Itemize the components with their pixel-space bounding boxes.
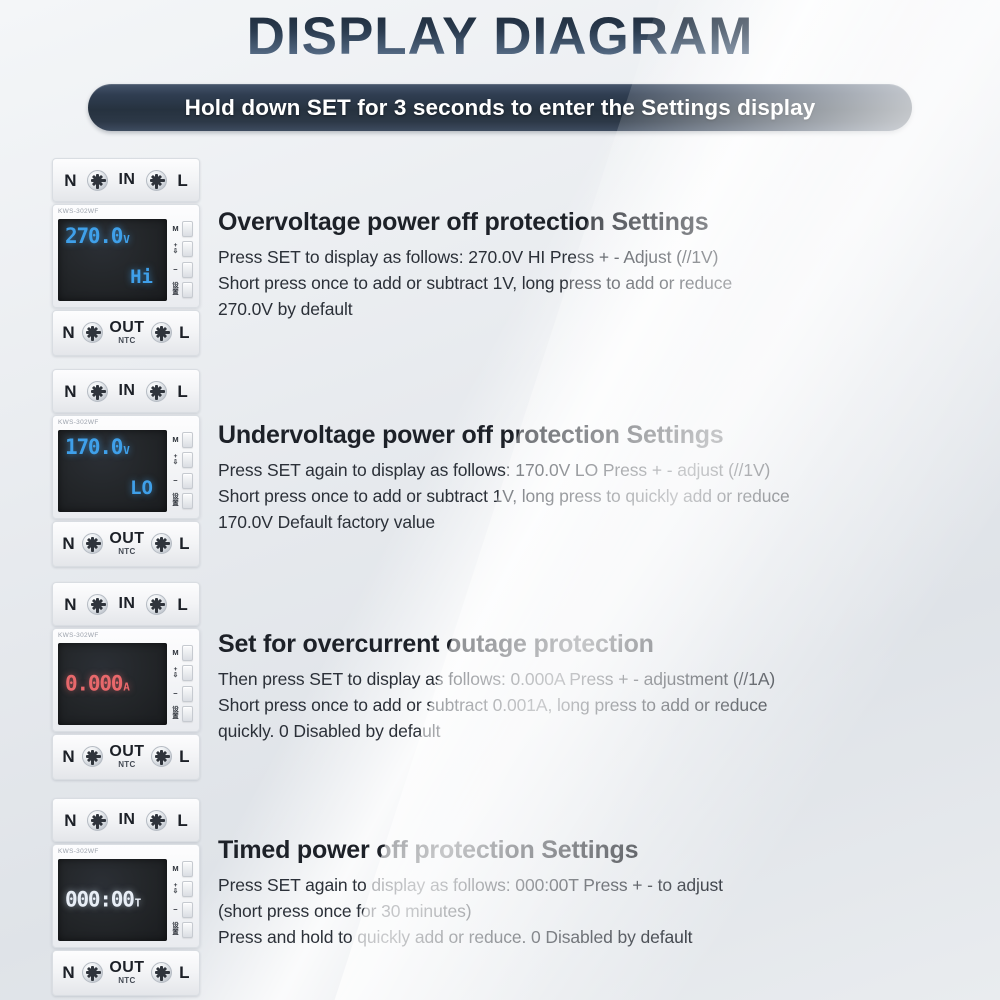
terminal-label-n-bottom: N xyxy=(62,964,74,981)
minus-button[interactable]: − xyxy=(171,260,195,279)
terminal-label-n-top: N xyxy=(64,812,76,829)
section-line: quickly. 0 Disabled by default xyxy=(218,719,980,745)
instruction-banner: Hold down SET for 3 seconds to enter the… xyxy=(88,84,912,131)
screw-icon xyxy=(87,170,108,191)
plus-button-label: +⇩ xyxy=(171,454,180,468)
plus-button-key[interactable] xyxy=(182,881,193,897)
lcd-screen: 170.0V LO xyxy=(58,430,167,512)
screw-icon xyxy=(82,533,103,554)
section-line: Press and hold to quickly add or reduce.… xyxy=(218,925,980,951)
meter-body: KWS-302WF 170.0V LO M xyxy=(52,415,200,519)
lcd-unit: T xyxy=(135,896,142,909)
lcd-screen: 270.0V Hi xyxy=(58,219,167,301)
mode-button-key[interactable] xyxy=(182,861,193,877)
bottom-terminal-block: N OUT NTC L xyxy=(52,950,200,996)
minus-button-key[interactable] xyxy=(182,902,193,918)
screw-icon xyxy=(146,381,167,402)
plus-button-key[interactable] xyxy=(182,665,193,681)
section-line: Short press once to add or subtract 0.00… xyxy=(218,693,980,719)
screw-icon xyxy=(87,810,108,831)
model-label: KWS-302WF xyxy=(58,633,195,640)
section-line: (short press once for 30 minutes) xyxy=(218,899,980,925)
device-unit-overcurrent: N IN L KWS-302WF 0.000A xyxy=(52,582,204,780)
top-terminal-block: N IN L xyxy=(52,798,200,842)
terminal-label-l-top: L xyxy=(177,596,187,613)
mode-button[interactable]: M xyxy=(171,431,195,450)
terminal-label-ntc: NTC xyxy=(118,548,135,556)
screw-icon xyxy=(151,533,172,554)
terminal-label-n-bottom: N xyxy=(62,748,74,765)
lcd-secondary-value: Hi xyxy=(130,268,153,287)
minus-button-label: − xyxy=(171,477,180,485)
section-line: 170.0V Default factory value xyxy=(218,510,980,536)
section-row-overcurrent: N IN L KWS-302WF 0.000A xyxy=(0,582,1000,780)
minus-button[interactable]: − xyxy=(171,471,195,490)
terminal-label-out: OUT NTC xyxy=(109,744,144,769)
terminal-label-in: IN xyxy=(119,172,136,188)
set-button[interactable]: 设置 xyxy=(171,704,195,723)
screw-icon xyxy=(146,170,167,191)
terminal-label-l-bottom: L xyxy=(179,964,189,981)
meter-body: KWS-302WF 000:00T M xyxy=(52,844,200,948)
section-text-timed: Timed power off protection Settings Pres… xyxy=(204,798,1000,996)
section-title: Timed power off protection Settings xyxy=(218,836,980,864)
model-label: KWS-302WF xyxy=(58,209,195,216)
set-button-key[interactable] xyxy=(182,922,193,938)
screw-icon xyxy=(146,810,167,831)
top-terminal-block: N IN L xyxy=(52,158,200,202)
section-text-overcurrent: Set for overcurrent outage protection Th… xyxy=(204,582,1000,780)
screw-icon xyxy=(87,381,108,402)
bottom-terminal-block: N OUT NTC L xyxy=(52,310,200,356)
minus-button[interactable]: − xyxy=(171,684,195,703)
terminal-label-in: IN xyxy=(119,383,136,399)
screw-icon xyxy=(87,594,108,615)
set-button[interactable]: 设置 xyxy=(171,920,195,939)
button-column: M +⇩ − xyxy=(171,859,195,941)
section-row-overvoltage: N IN L KWS-302WF 270.0V Hi xyxy=(0,158,1000,356)
terminal-label-n-top: N xyxy=(64,172,76,189)
mode-button-key[interactable] xyxy=(182,221,193,237)
top-terminal-block: N IN L xyxy=(52,582,200,626)
mode-button-label: M xyxy=(171,649,180,657)
plus-button[interactable]: +⇩ xyxy=(171,880,195,899)
instruction-banner-text: Hold down SET for 3 seconds to enter the… xyxy=(185,95,816,121)
terminal-label-out: OUT NTC xyxy=(109,531,144,556)
section-line: Press SET again to display as follows: 0… xyxy=(218,873,980,899)
model-label: KWS-302WF xyxy=(58,849,195,856)
terminal-label-ntc: NTC xyxy=(118,761,135,769)
screw-icon xyxy=(151,962,172,983)
terminal-label-l-top: L xyxy=(177,383,187,400)
button-column: M +⇩ − xyxy=(171,430,195,512)
model-label: KWS-302WF xyxy=(58,420,195,427)
lcd-secondary-value: LO xyxy=(130,479,153,498)
terminal-label-in: IN xyxy=(119,596,136,612)
terminal-label-l-bottom: L xyxy=(179,748,189,765)
lcd-primary-value: 270.0V xyxy=(65,226,130,247)
set-button-key[interactable] xyxy=(182,706,193,722)
bottom-terminal-block: N OUT NTC L xyxy=(52,521,200,567)
minus-button-key[interactable] xyxy=(182,686,193,702)
top-terminal-block: N IN L xyxy=(52,369,200,413)
set-button[interactable]: 设置 xyxy=(171,491,195,510)
page-title: DISPLAY DIAGRAM xyxy=(0,8,1000,66)
terminal-label-ntc: NTC xyxy=(118,337,135,345)
screw-icon xyxy=(146,594,167,615)
section-text-undervoltage: Undervoltage power off protection Settin… xyxy=(204,369,1000,567)
section-line: Press SET again to display as follows: 1… xyxy=(218,458,980,484)
section-line: Short press once to add or subtract 1V, … xyxy=(218,484,980,510)
lcd-unit: V xyxy=(123,444,130,457)
plus-button-label: +⇩ xyxy=(171,883,180,897)
set-button-label: 设置 xyxy=(171,283,180,297)
section-line: 270.0V by default xyxy=(218,297,980,323)
screw-icon xyxy=(151,746,172,767)
meter-body: KWS-302WF 0.000A M xyxy=(52,628,200,732)
terminal-label-in: IN xyxy=(119,812,136,828)
set-button[interactable]: 设置 xyxy=(171,280,195,299)
mode-button-label: M xyxy=(171,436,180,444)
terminal-label-n-bottom: N xyxy=(62,324,74,341)
plus-button[interactable]: +⇩ xyxy=(171,240,195,259)
plus-button-key[interactable] xyxy=(182,241,193,257)
mode-button-key[interactable] xyxy=(182,645,193,661)
terminal-label-l-bottom: L xyxy=(179,324,189,341)
plus-button-label: +⇩ xyxy=(171,243,180,257)
section-title: Set for overcurrent outage protection xyxy=(218,630,980,658)
mode-button[interactable]: M xyxy=(171,644,195,663)
terminal-label-n-top: N xyxy=(64,596,76,613)
lcd-primary-value: 170.0V xyxy=(65,437,130,458)
lcd-unit: A xyxy=(123,680,130,693)
plus-button-key[interactable] xyxy=(182,452,193,468)
page-background: DISPLAY DIAGRAM Hold down SET for 3 seco… xyxy=(0,0,1000,1000)
screw-icon xyxy=(82,322,103,343)
mode-button-label: M xyxy=(171,225,180,233)
terminal-label-l-top: L xyxy=(177,812,187,829)
minus-button-label: − xyxy=(171,690,180,698)
section-text-overvoltage: Overvoltage power off protection Setting… xyxy=(204,158,1000,356)
section-title: Overvoltage power off protection Setting… xyxy=(218,208,980,236)
screw-icon xyxy=(82,962,103,983)
terminal-label-out: OUT NTC xyxy=(109,320,144,345)
set-button-label: 设置 xyxy=(171,707,180,721)
set-button-label: 设置 xyxy=(171,494,180,508)
terminal-label-l-bottom: L xyxy=(179,535,189,552)
minus-button-key[interactable] xyxy=(182,473,193,489)
minus-button-key[interactable] xyxy=(182,262,193,278)
plus-button[interactable]: +⇩ xyxy=(171,451,195,470)
mode-button-label: M xyxy=(171,865,180,873)
plus-button[interactable]: +⇩ xyxy=(171,664,195,683)
bottom-terminal-block: N OUT NTC L xyxy=(52,734,200,780)
device-unit-undervoltage: N IN L KWS-302WF 170.0V LO xyxy=(52,369,204,567)
lcd-screen: 0.000A xyxy=(58,643,167,725)
lcd-unit: V xyxy=(123,233,130,246)
section-line: Then press SET to display as follows: 0.… xyxy=(218,667,980,693)
minus-button-label: − xyxy=(171,266,180,274)
lcd-screen: 000:00T xyxy=(58,859,167,941)
terminal-label-ntc: NTC xyxy=(118,977,135,985)
screw-icon xyxy=(151,322,172,343)
lcd-primary-value: 0.000A xyxy=(65,673,130,694)
section-line: Press SET to display as follows: 270.0V … xyxy=(218,245,980,271)
terminal-label-n-bottom: N xyxy=(62,535,74,552)
minus-button-label: − xyxy=(171,906,180,914)
terminal-label-l-top: L xyxy=(177,172,187,189)
device-unit-timed: N IN L KWS-302WF 000:00T xyxy=(52,798,204,996)
set-button-key[interactable] xyxy=(182,493,193,509)
section-line: Short press once to add or subtract 1V, … xyxy=(218,271,980,297)
section-title: Undervoltage power off protection Settin… xyxy=(218,421,980,449)
section-row-undervoltage: N IN L KWS-302WF 170.0V LO xyxy=(0,369,1000,567)
mode-button[interactable]: M xyxy=(171,860,195,879)
minus-button[interactable]: − xyxy=(171,900,195,919)
terminal-label-out: OUT NTC xyxy=(109,960,144,985)
screw-icon xyxy=(82,746,103,767)
set-button-key[interactable] xyxy=(182,282,193,298)
meter-body: KWS-302WF 270.0V Hi M xyxy=(52,204,200,308)
section-row-timed: N IN L KWS-302WF 000:00T xyxy=(0,798,1000,996)
lcd-primary-value: 000:00T xyxy=(65,889,141,910)
mode-button-key[interactable] xyxy=(182,432,193,448)
button-column: M +⇩ − xyxy=(171,219,195,301)
button-column: M +⇩ − xyxy=(171,643,195,725)
set-button-label: 设置 xyxy=(171,923,180,937)
plus-button-label: +⇩ xyxy=(171,667,180,681)
mode-button[interactable]: M xyxy=(171,220,195,239)
terminal-label-n-top: N xyxy=(64,383,76,400)
device-unit-overvoltage: N IN L KWS-302WF 270.0V Hi xyxy=(52,158,204,356)
